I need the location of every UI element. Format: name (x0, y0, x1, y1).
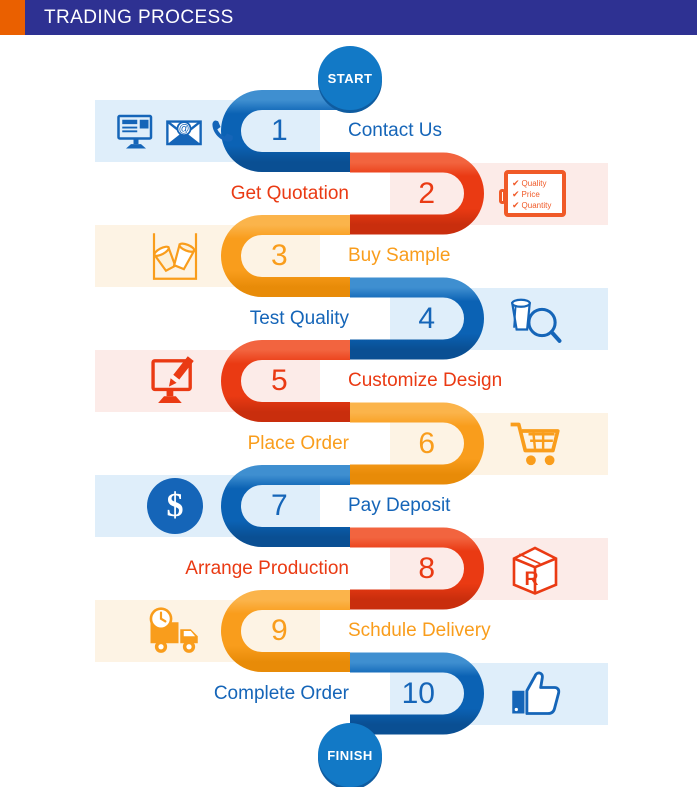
ribbon-segment (350, 538, 474, 600)
finish-badge[interactable]: FINISH (318, 723, 382, 787)
step-label-10[interactable]: Complete Order (214, 680, 349, 708)
step-number-7: 7 (271, 486, 288, 526)
checklist: ✔Quality✔Price✔Quantity (512, 178, 562, 211)
svg-text:R: R (525, 568, 539, 589)
step-label-8[interactable]: Arrange Production (185, 555, 349, 583)
step-label-9[interactable]: Schdule Delivery (348, 617, 491, 645)
checklist-item: ✔Quantity (512, 200, 562, 211)
ribbon-segment (350, 163, 474, 225)
clipboard-icon: ✔Quality✔Price✔Quantity (504, 170, 566, 217)
step-number-3: 3 (271, 236, 288, 276)
carton-box-icon: R (465, 539, 605, 599)
ribbon-segment (350, 413, 474, 475)
shopping-cart-icon (465, 414, 605, 474)
step-label-7[interactable]: Pay Deposit (348, 492, 450, 520)
svg-text:@: @ (179, 123, 190, 135)
step-label-4[interactable]: Test Quality (250, 305, 349, 333)
step-number-1: 1 (271, 111, 288, 151)
step-number-10: 10 (402, 674, 435, 714)
step-number-8: 8 (418, 549, 435, 589)
trading-process-diagram: 1Contact Us@2Get Quotation✔Quality✔Price… (0, 0, 697, 787)
thumbs-up-icon (465, 664, 605, 724)
dollar-symbol: $ (147, 478, 203, 534)
contact-channels-icon: @ (100, 101, 250, 161)
clipboard-clip (499, 189, 506, 204)
checklist-item: ✔Price (512, 189, 562, 200)
step-number-4: 4 (418, 299, 435, 339)
design-pen-monitor-icon (100, 351, 250, 411)
step-label-1[interactable]: Contact Us (348, 117, 442, 145)
step-number-2: 2 (418, 174, 435, 214)
step-label-6[interactable]: Place Order (248, 430, 349, 458)
step-number-9: 9 (271, 611, 288, 651)
step-label-5[interactable]: Customize Design (348, 367, 502, 395)
step-label-3[interactable]: Buy Sample (348, 242, 450, 270)
checklist-item: ✔Quality (512, 178, 562, 189)
sample-cups-icon (100, 226, 250, 286)
magnifier-cup-icon (465, 289, 605, 349)
ribbon-segment (350, 288, 474, 350)
step-number-6: 6 (418, 424, 435, 464)
dollar-coin-icon: $ (100, 476, 250, 536)
delivery-truck-clock-icon (100, 601, 250, 661)
step-number-5: 5 (271, 361, 288, 401)
step-label-2[interactable]: Get Quotation (231, 180, 349, 208)
start-badge[interactable]: START (318, 46, 382, 110)
quotation-clipboard-icon: ✔Quality✔Price✔Quantity (465, 164, 605, 224)
